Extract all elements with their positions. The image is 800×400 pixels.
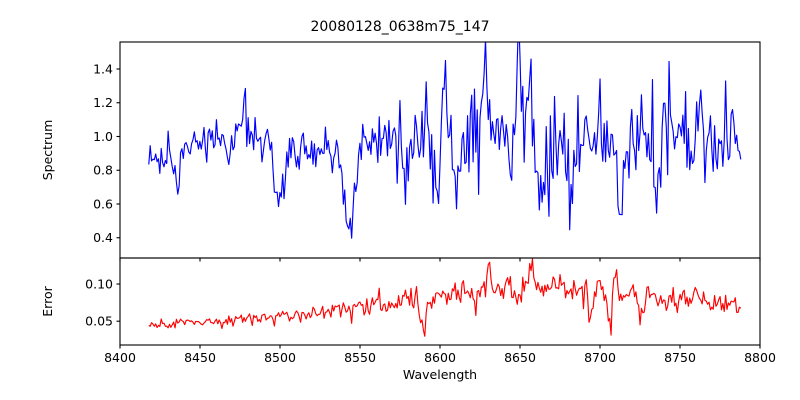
xtick-label: 8500 [264, 350, 296, 365]
xtick-label: 8650 [504, 350, 536, 365]
error-y-axis-label: Error [40, 285, 55, 316]
xtick-label: 8400 [104, 350, 136, 365]
page-title: 20080128_0638m75_147 [310, 19, 489, 35]
xtick-label: 8450 [184, 350, 216, 365]
spectrum-ytick-label: 0.6 [93, 196, 113, 211]
spectrum-ytick-label: 0.8 [93, 163, 113, 178]
xtick-label: 8750 [664, 350, 696, 365]
error-ytick-label: 0.10 [85, 276, 113, 291]
figure-canvas: 20080128_0638m75_147 0.40.60.81.01.21.4S… [0, 0, 800, 400]
error-ytick-label: 0.05 [85, 314, 113, 329]
panel-error: 0.050.1084008450850085508600865087008750… [40, 258, 776, 365]
xtick-label: 8700 [584, 350, 616, 365]
spectrum-data-line [149, 15, 741, 238]
panel-spectrum: 0.40.60.81.01.21.4Spectrum [40, 15, 760, 261]
xtick-label: 8800 [744, 350, 776, 365]
spectrum-y-axis-label: Spectrum [40, 120, 55, 181]
spectrum-plot: 20080128_0638m75_147 0.40.60.81.01.21.4S… [0, 0, 800, 400]
spectrum-ytick-label: 1.4 [93, 61, 113, 76]
xtick-label: 8550 [344, 350, 376, 365]
spectrum-ytick-label: 1.0 [93, 129, 113, 144]
error-axes-frame [120, 258, 760, 345]
x-axis-label: Wavelength [403, 367, 477, 382]
spectrum-ytick-label: 0.4 [93, 230, 113, 245]
panels-group: 0.40.60.81.01.21.4Spectrum0.050.10840084… [40, 15, 776, 382]
xtick-label: 8600 [424, 350, 456, 365]
error-data-line [149, 259, 741, 336]
spectrum-ytick-label: 1.2 [93, 95, 113, 110]
